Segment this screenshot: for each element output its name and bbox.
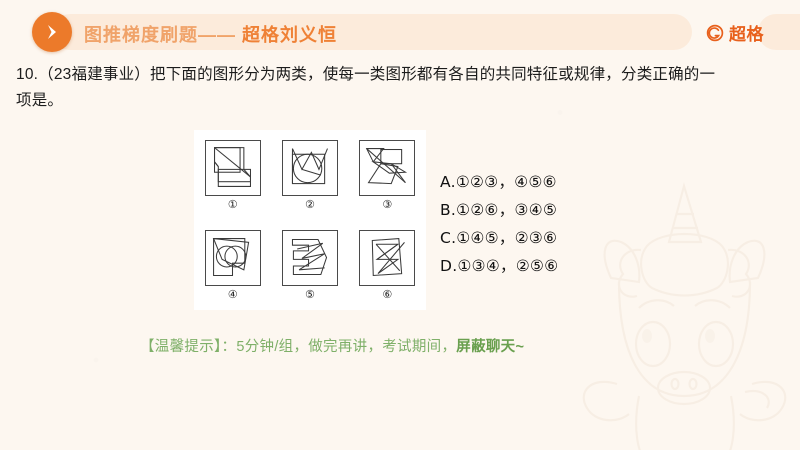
figure-3 bbox=[359, 140, 415, 196]
figure-5 bbox=[282, 230, 338, 286]
figure-panel: ① ② bbox=[194, 130, 426, 310]
question-stem-line-2: 项是。 bbox=[16, 88, 788, 114]
figure-1 bbox=[205, 140, 261, 196]
slide-canvas: 图推梯度刷题—— 超格刘义恒 超格 10.（23福建事业）把下面的图形分为两类，… bbox=[0, 0, 800, 450]
figure-cell-1[interactable]: ① bbox=[194, 130, 271, 220]
circle-g-logo-icon bbox=[706, 24, 724, 42]
figure-cell-4[interactable]: ④ bbox=[194, 220, 271, 310]
chevron-right-glyph bbox=[42, 22, 62, 42]
reminder-tip: 【温馨提示】：5分钟/组，做完再讲，考试期间，屏蔽聊天~ bbox=[140, 335, 524, 356]
figure-label-2: ② bbox=[305, 199, 315, 211]
header-pill-right-accent bbox=[758, 14, 800, 50]
figure-cell-2[interactable]: ② bbox=[271, 130, 348, 220]
figure-label-3: ③ bbox=[382, 199, 392, 211]
figure-4 bbox=[205, 230, 261, 286]
chevron-right-icon[interactable] bbox=[32, 12, 72, 52]
reminder-tip-body: 5分钟/组，做完再讲，考试期间， bbox=[236, 339, 456, 355]
figure-label-5: ⑤ bbox=[305, 289, 315, 301]
figure-cell-5[interactable]: ⑤ bbox=[271, 220, 348, 310]
header-bar: 图推梯度刷题—— 超格刘义恒 超格 bbox=[0, 10, 800, 54]
header-title-accent: 超格刘义恒 bbox=[242, 25, 337, 45]
figure-grid: ① ② bbox=[194, 130, 426, 310]
reminder-tip-prefix: 【温馨提示】： bbox=[140, 339, 236, 355]
answer-options: A.①②③，④⑤⑥ B.①②⑥，③④⑤ C.①④⑤，②③⑥ D.①③④，②⑤⑥ bbox=[440, 168, 558, 280]
figure-cell-6[interactable]: ⑥ bbox=[349, 220, 426, 310]
option-b[interactable]: B.①②⑥，③④⑤ bbox=[440, 196, 558, 224]
figure-label-1: ① bbox=[228, 199, 238, 211]
brand-logo: 超格 bbox=[706, 20, 764, 45]
option-a[interactable]: A.①②③，④⑤⑥ bbox=[440, 168, 558, 196]
question-stem: 10.（23福建事业）把下面的图形分为两类，使每一类图形都有各自的共同特征或规律… bbox=[16, 62, 788, 114]
question-stem-line-1: 10.（23福建事业）把下面的图形分为两类，使每一类图形都有各自的共同特征或规律… bbox=[16, 62, 788, 88]
figure-2 bbox=[282, 140, 338, 196]
option-d[interactable]: D.①③④，②⑤⑥ bbox=[440, 252, 558, 280]
option-c[interactable]: C.①④⑤，②③⑥ bbox=[440, 224, 558, 252]
figure-label-4: ④ bbox=[228, 289, 238, 301]
header-title: 图推梯度刷题—— 超格刘义恒 bbox=[84, 21, 337, 47]
reminder-tip-emphasis: 屏蔽聊天~ bbox=[456, 339, 524, 355]
header-title-main: 图推梯度刷题—— bbox=[84, 25, 236, 45]
figure-6 bbox=[359, 230, 415, 286]
figure-label-6: ⑥ bbox=[382, 289, 392, 301]
unicorn-mascot-watermark bbox=[577, 170, 792, 450]
figure-cell-3[interactable]: ③ bbox=[349, 130, 426, 220]
brand-text: 超格 bbox=[729, 20, 764, 45]
